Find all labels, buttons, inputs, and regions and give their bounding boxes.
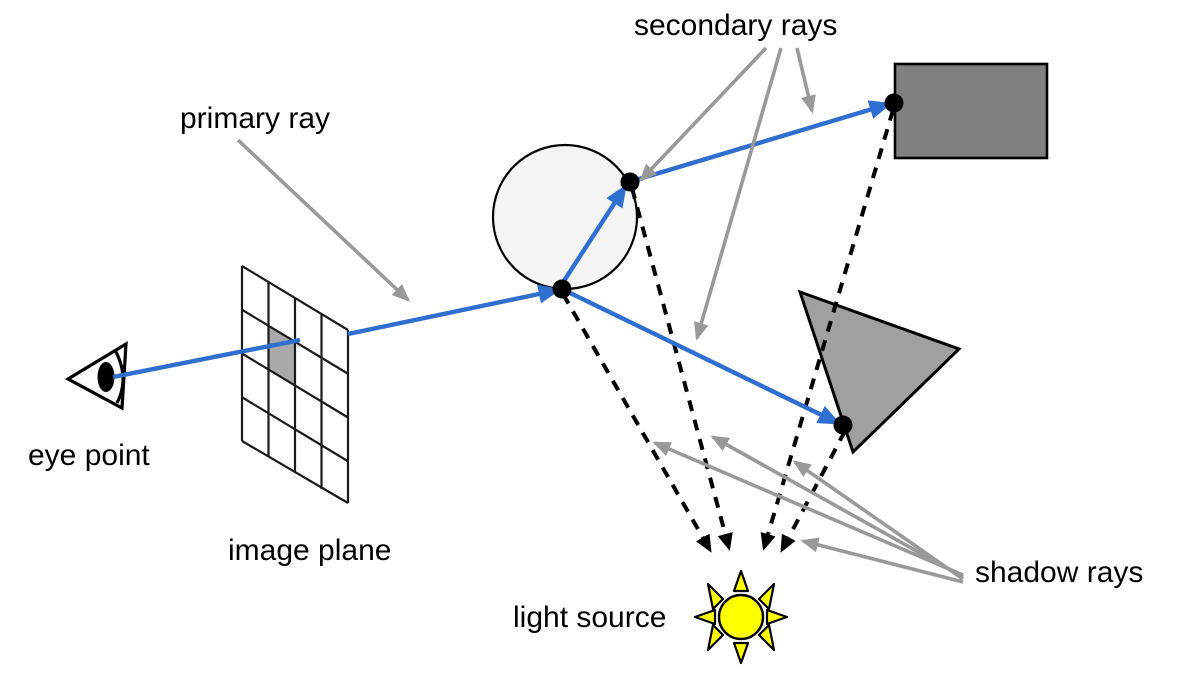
triangle-object (800, 292, 959, 452)
blue-rays-group (113, 104, 889, 423)
sphere-object (493, 145, 637, 289)
shadow-ray-sphere-front (563, 294, 710, 550)
leader-shadow-2 (713, 437, 963, 577)
shadow-ray-sphere-upper (632, 188, 729, 548)
label-shadow-rays: shadow rays (975, 556, 1143, 589)
light-source-icon (695, 571, 787, 663)
label-primary-ray: primary ray (180, 102, 330, 135)
hit-point-sphere-front (553, 280, 572, 299)
label-image-plane: image plane (228, 534, 391, 567)
image-plane-grid (242, 266, 348, 503)
label-secondary-rays: secondary rays (634, 9, 837, 42)
leader-primary-ray (238, 140, 408, 300)
label-light-source: light source (513, 601, 666, 634)
scene-objects (493, 64, 1047, 452)
secondary-ray-to-rectangle (629, 104, 889, 182)
secondary-ray-to-triangle (566, 291, 838, 423)
ray-tracing-diagram: secondary rays primary ray eye point ima… (0, 0, 1190, 687)
hit-point-sphere-upper (621, 173, 640, 192)
leader-secondary-3 (797, 48, 812, 111)
leader-secondary-2 (697, 48, 781, 338)
diagram-canvas: secondary rays primary ray eye point ima… (0, 0, 1190, 687)
leader-shadow-1 (655, 443, 963, 575)
hit-point-triangle (834, 416, 853, 435)
label-eye-point: eye point (28, 439, 150, 472)
primary-ray-plane-to-sphere (348, 290, 558, 334)
rectangle-object (895, 64, 1047, 158)
hit-point-rectangle (885, 94, 904, 113)
